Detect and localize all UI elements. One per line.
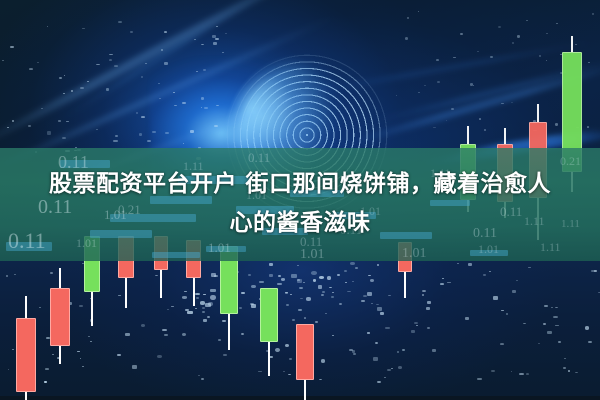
speckle	[418, 92, 420, 93]
data-bar	[152, 252, 200, 258]
speckle	[114, 65, 118, 67]
number-overlay: 0.11	[248, 150, 270, 166]
headline-line-2: 心的酱香滋味	[0, 204, 600, 243]
speckle	[64, 75, 66, 76]
speckle	[109, 59, 112, 61]
speckle	[164, 31, 167, 33]
speckle	[407, 17, 409, 19]
speckle	[173, 92, 175, 94]
speckle	[451, 108, 454, 110]
speckle	[446, 120, 447, 121]
speckle	[71, 90, 74, 92]
speckle	[82, 28, 85, 29]
speckle	[28, 125, 31, 128]
speckle	[141, 76, 144, 78]
speckle	[477, 51, 479, 52]
speckle	[460, 33, 463, 36]
speckle	[182, 102, 186, 104]
speckle	[511, 102, 513, 103]
speckle	[216, 26, 218, 27]
headline-text: 股票配资平台开户 街口那间烧饼铺，藏着治愈人 心的酱香滋味	[0, 165, 600, 243]
speckle	[555, 123, 558, 125]
speckle	[152, 131, 156, 133]
speckle	[115, 135, 118, 137]
speckle	[174, 105, 177, 107]
speckle	[517, 35, 520, 37]
candle-b9	[296, 324, 314, 400]
speckle	[556, 23, 557, 24]
speckle	[58, 120, 61, 122]
speckle	[161, 49, 163, 51]
speckle	[196, 71, 198, 73]
speckle	[66, 121, 69, 122]
number-overlay: 1.01	[478, 242, 499, 257]
headline-line-1: 股票配资平台开户 街口那间烧饼铺，藏着治愈人	[0, 165, 600, 204]
speckle	[96, 64, 100, 66]
speckle	[141, 116, 145, 118]
speckle	[29, 68, 33, 70]
speckle	[118, 21, 122, 23]
speckle	[59, 77, 62, 79]
speckle	[2, 60, 5, 61]
speckle	[213, 42, 217, 45]
speckle	[165, 132, 169, 134]
speckle	[418, 11, 419, 12]
speckle	[498, 26, 501, 28]
speckle	[512, 42, 514, 44]
speckle	[588, 62, 590, 63]
stock-banner-image: 0.110.110.111.011.011.011.010.210.210.11…	[0, 0, 600, 400]
speckle	[145, 63, 147, 64]
candle-b8	[260, 288, 278, 376]
speckle	[63, 93, 65, 94]
speckle	[212, 35, 216, 38]
speckle	[147, 140, 151, 142]
candle-body	[296, 324, 314, 380]
speckle	[424, 85, 426, 86]
speckle	[437, 81, 440, 83]
speckle	[539, 55, 541, 57]
speckle	[7, 127, 9, 128]
speckle	[587, 126, 589, 128]
speckle	[201, 107, 203, 108]
speckle	[201, 44, 204, 45]
speckle	[215, 38, 219, 40]
speckle	[158, 83, 161, 84]
speckle	[194, 39, 197, 40]
speckle	[109, 54, 112, 56]
speckle	[204, 107, 208, 110]
speckle	[501, 103, 503, 104]
speckle	[470, 83, 473, 85]
speckle	[159, 98, 161, 99]
candle-b7	[220, 246, 238, 350]
speckle	[473, 85, 474, 86]
speckle	[490, 56, 494, 58]
speckle	[546, 33, 548, 34]
candle-body	[50, 288, 70, 346]
speckle	[203, 69, 206, 72]
speckle	[546, 60, 548, 61]
candle-body	[16, 318, 36, 392]
speckle	[453, 57, 456, 58]
speckle	[47, 131, 51, 134]
candle-b2	[50, 268, 70, 364]
speckle	[526, 20, 527, 21]
speckle	[113, 140, 117, 142]
number-overlay: 1.01	[402, 246, 427, 261]
speckle	[436, 59, 439, 61]
speckle	[139, 133, 142, 136]
speckle	[396, 95, 398, 96]
speckle	[190, 130, 194, 132]
speckle	[136, 112, 138, 113]
speckle	[201, 97, 204, 99]
speckle	[130, 31, 133, 33]
speckle	[484, 129, 486, 131]
speckle	[87, 81, 89, 82]
speckle	[41, 108, 44, 109]
speckle	[183, 143, 185, 144]
speckle	[164, 62, 168, 65]
speckle	[96, 129, 98, 130]
speckle	[222, 52, 224, 53]
speckle	[37, 62, 40, 63]
speckle	[433, 127, 436, 128]
candle-b1	[16, 296, 36, 400]
speckle	[12, 120, 15, 122]
speckle	[405, 37, 408, 40]
candle-body	[260, 288, 278, 342]
speckle	[80, 87, 84, 89]
speckle	[47, 26, 49, 27]
speckle	[225, 33, 227, 34]
speckle	[106, 88, 109, 91]
speckle	[10, 46, 14, 48]
speckle	[479, 118, 481, 120]
speckle	[592, 13, 595, 15]
speckle	[62, 137, 66, 139]
